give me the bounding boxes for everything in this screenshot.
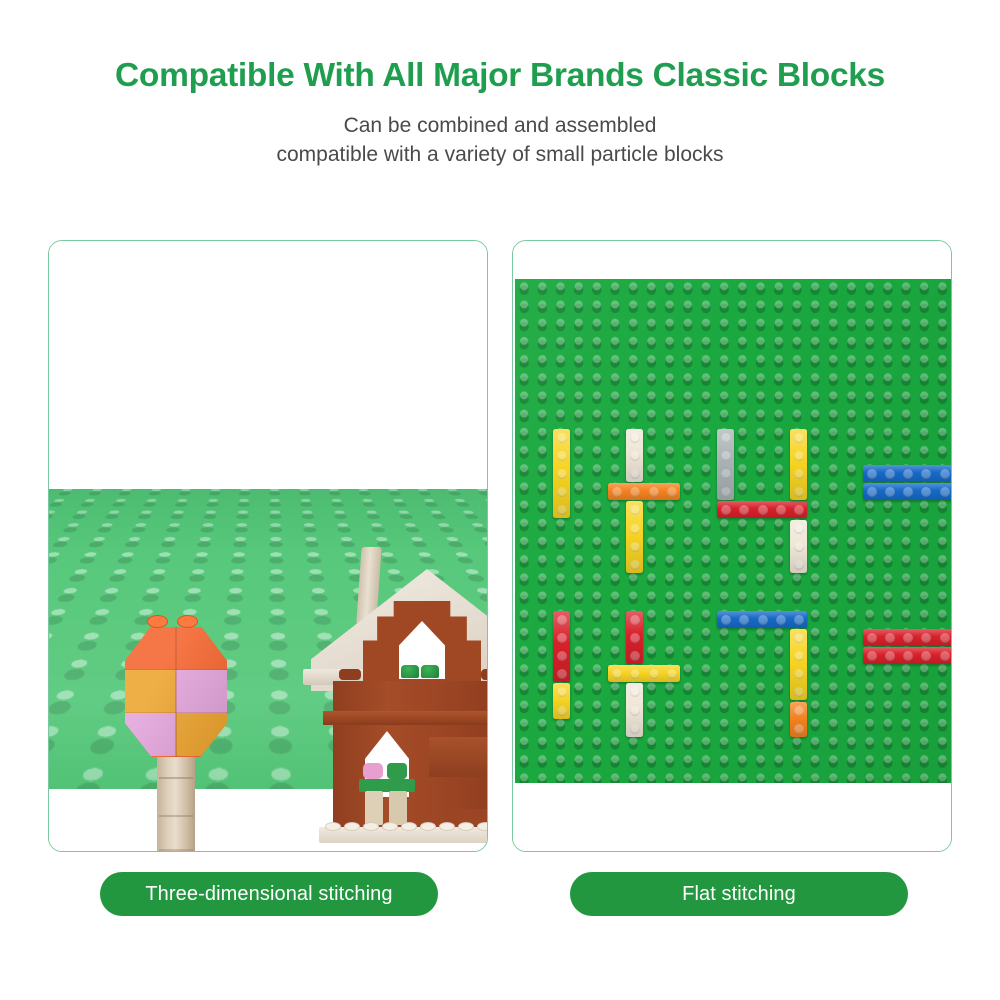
house-brick-detail [481,669,487,680]
equation-brick [553,683,570,718]
porch-stud [477,822,487,831]
equation-brick [863,629,951,646]
equation-brick [790,520,807,573]
canopy-stud [147,615,168,628]
equation-brick [626,501,643,573]
house-awning [429,737,487,777]
page-title: Compatible With All Major Brands Classic… [0,57,1000,95]
porch-stud [363,822,379,831]
brick-gloss [790,520,807,573]
brick-gloss [717,611,807,628]
window-pot-pink [363,763,383,779]
scene-3d-build [49,241,487,851]
brick-gloss [626,611,643,664]
brick-gloss [863,483,951,500]
porch-stud [325,822,341,831]
equation-brick [863,483,951,500]
brick-gloss [717,501,807,518]
tree-canopy [125,627,227,757]
subtitle-line-2: compatible with a variety of small parti… [0,140,1000,169]
subtitle-line-1: Can be combined and assembled [0,111,1000,140]
porch-stud [458,822,474,831]
equation-brick [790,429,807,501]
equation-brick [553,429,570,519]
house-brick-detail [339,669,361,680]
porch-stud [439,822,455,831]
baseplate-sheen [515,279,951,783]
brick-gloss [608,483,680,500]
brick-gloss [863,647,951,664]
equation-brick [717,611,807,628]
brick-gloss [863,629,951,646]
panel-flat-stitching [512,240,952,852]
brick-tree [121,613,231,851]
equation-brick [717,429,734,501]
porch-stud [401,822,417,831]
canopy-stud [177,615,198,628]
equation-brick [608,665,680,682]
brick-gloss [553,683,570,718]
equation-brick [626,683,643,736]
porch-stud [344,822,360,831]
brick-gloss [717,429,734,501]
window-pot-green [387,763,407,779]
window-plant [401,665,419,678]
brick-house [319,541,487,851]
equation-brick [863,465,951,482]
brick-gloss [790,702,807,737]
equation-brick [790,629,807,701]
baseplate-flat [515,279,951,783]
equation-brick [608,483,680,500]
brick-gloss [553,611,570,683]
brick-gloss [626,501,643,573]
porch-stud [420,822,436,831]
scene-flat-build [513,241,951,851]
house-ledge [323,711,487,725]
brick-gloss [608,665,680,682]
house-column [389,791,407,825]
page-subtitle: Can be combined and assembled compatible… [0,111,1000,169]
equation-brick [717,501,807,518]
equation-brick [863,647,951,664]
caption-pill-three-dimensional-stitching[interactable]: Three-dimensional stitching [100,872,438,916]
equation-brick [626,611,643,664]
brick-gloss [863,465,951,482]
brick-gloss [553,429,570,519]
window-plant [421,665,439,678]
brick-gloss [626,429,643,482]
porch-stud [382,822,398,831]
brick-gloss [626,683,643,736]
brick-gloss [790,629,807,701]
infographic-page: Compatible With All Major Brands Classic… [0,0,1000,1000]
house-column [365,791,383,825]
panel-three-dimensional-stitching [48,240,488,852]
brick-gloss [790,429,807,501]
caption-pill-flat-stitching[interactable]: Flat stitching [570,872,908,916]
header: Compatible With All Major Brands Classic… [0,0,1000,169]
equation-brick [626,429,643,482]
tree-trunk [157,741,195,851]
equation-brick [790,702,807,737]
equation-brick [553,611,570,683]
canopy-shading [125,627,227,757]
